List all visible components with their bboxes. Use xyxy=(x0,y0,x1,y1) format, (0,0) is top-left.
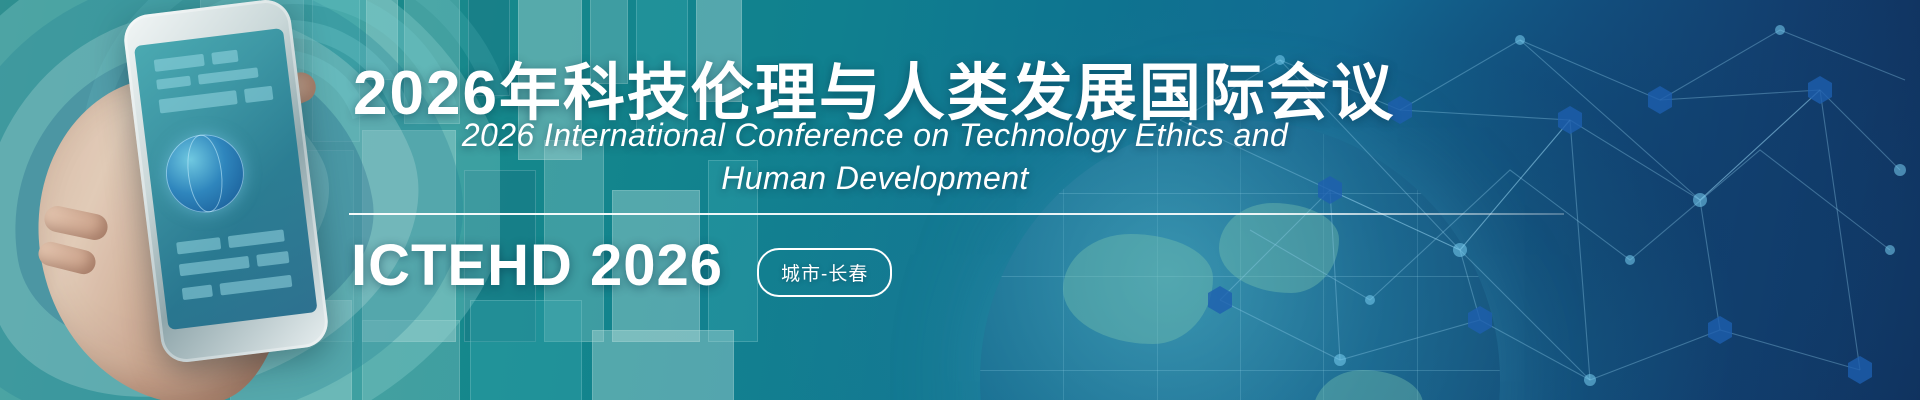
subtitle-english: 2026 International Conference on Technol… xyxy=(345,114,1405,200)
banner-text-content: 2026年科技伦理与人类发展国际会议 2026 International Co… xyxy=(345,0,1545,400)
hand-holding-phone xyxy=(30,0,360,400)
divider xyxy=(349,213,1564,215)
conference-banner: 2026年科技伦理与人类发展国际会议 2026 International Co… xyxy=(0,0,1920,400)
city-badge: 城市-长春 xyxy=(757,248,892,297)
globe-icon xyxy=(161,130,248,217)
conference-acronym: ICTEHD 2026 xyxy=(351,232,723,299)
subtitle-line-2: Human Development xyxy=(345,157,1405,200)
acronym-row: ICTEHD 2026 城市-长春 xyxy=(351,232,892,299)
phone-screen xyxy=(134,28,318,330)
subtitle-line-1: 2026 International Conference on Technol… xyxy=(345,114,1405,157)
